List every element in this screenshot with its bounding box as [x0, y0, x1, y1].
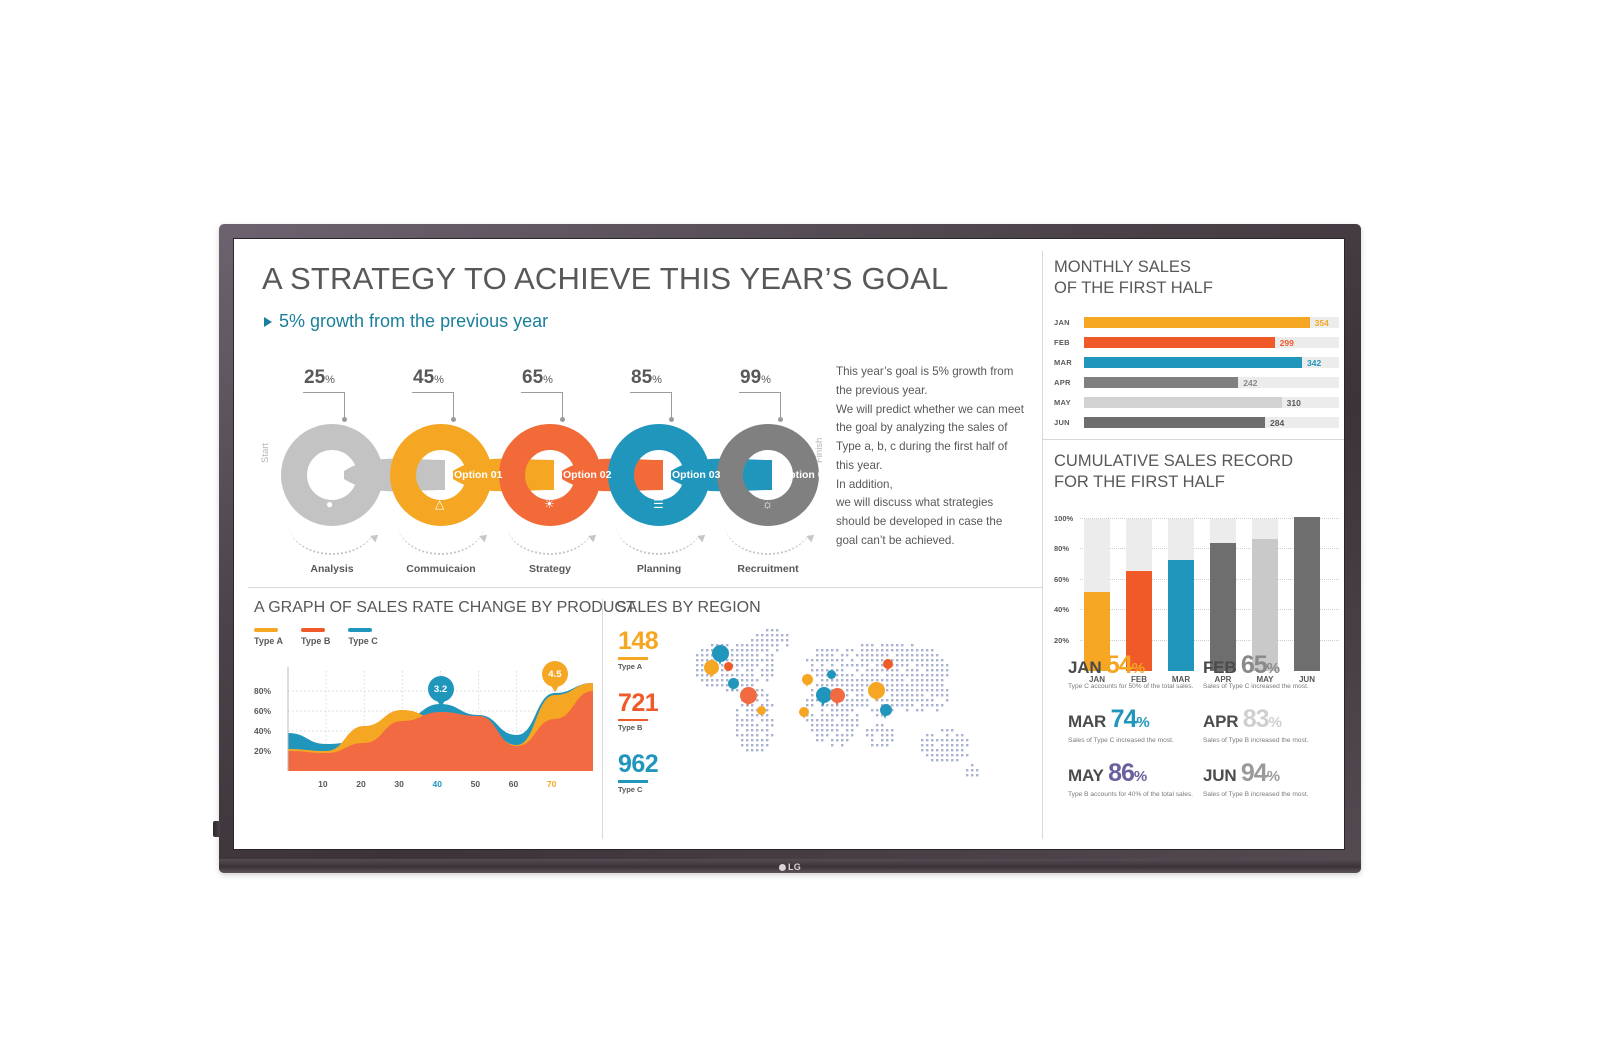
process-step-name: Analysis	[310, 563, 353, 575]
stat-month: FEB	[1203, 658, 1236, 677]
region-total-rule	[618, 719, 648, 722]
region-total-label: Type B	[618, 723, 658, 732]
monthly-sales-track: 310	[1084, 397, 1339, 408]
process-step-name: Commuicaion	[406, 563, 475, 575]
process-step-name: Strategy	[529, 563, 571, 575]
monthly-sales-title: MONTHLY SALES OF THE FIRST HALF	[1054, 257, 1339, 298]
process-percent-value: 85	[631, 367, 652, 388]
area-x-tick: 10	[318, 779, 327, 789]
process-percent-dot	[669, 417, 674, 422]
process-percent-stem	[562, 392, 563, 418]
stat-month: MAY	[1068, 766, 1104, 785]
monthly-sales-month: JAN	[1054, 318, 1084, 327]
world-map	[682, 625, 1022, 805]
process-percent-value: 45	[413, 367, 434, 388]
stat-month: APR	[1203, 712, 1238, 731]
stat-month: MAR	[1068, 712, 1106, 731]
body-line: We will predict whether we can meet the …	[836, 401, 1026, 476]
region-total-value: 721	[618, 689, 658, 718]
stat-month: JAN	[1068, 658, 1101, 677]
process-percent-rule	[303, 392, 345, 393]
month-stat-block: MAR 74%Sales of Type C increased the mos…	[1068, 705, 1203, 746]
area-x-tick: 20	[356, 779, 365, 789]
power-joystick-button[interactable]	[213, 821, 220, 837]
world-map-dots	[682, 625, 1022, 805]
stat-caption: Sales of Type B increased the most.	[1203, 737, 1338, 746]
map-location-pin-tail	[834, 699, 840, 706]
area-annotation-pin-tail	[436, 699, 446, 707]
process-percent-stem	[671, 392, 672, 418]
area-annotation-pin-tail	[550, 684, 560, 692]
area-x-tick: 30	[394, 779, 403, 789]
monthly-sales-row: FEB299	[1054, 334, 1339, 350]
stat-unit: %	[1134, 768, 1146, 785]
database-icon: ☰	[653, 497, 664, 511]
process-diagram: Start Finish 25%●Analysis45%Option 01△Co…	[254, 367, 824, 577]
monthly-sales-value: 342	[1307, 358, 1321, 368]
monthly-sales-month: JUN	[1054, 418, 1084, 427]
monthly-sales-bar	[1084, 377, 1238, 388]
map-location-pin-tail	[731, 686, 735, 691]
monitor-frame: A STRATEGY TO ACHIEVE THIS YEAR’S GOAL 5…	[219, 224, 1361, 873]
stat-unit: %	[1132, 660, 1144, 677]
legend-item: Type A	[254, 628, 283, 646]
monthly-sales-bar	[1084, 357, 1302, 368]
stat-unit: %	[1269, 714, 1281, 731]
stat-month: JUN	[1203, 766, 1236, 785]
sales-rate-title: A GRAPH OF SALES RATE CHANGE BY PRODUCT	[254, 599, 599, 617]
clock-icon: ☀	[544, 497, 555, 511]
stat-value: 54%	[1106, 651, 1144, 679]
month-stat-block: JAN 54%Type C accounts for 50% of the to…	[1068, 651, 1203, 692]
cumulative-sales-panel: CUMULATIVE SALES RECORD FOR THE FIRST HA…	[1054, 451, 1339, 846]
process-option-label: Option 03	[672, 469, 720, 481]
monthly-sales-row: MAR342	[1054, 354, 1339, 370]
area-x-tick: 40	[433, 779, 442, 789]
area-x-tick: 50	[471, 779, 480, 789]
cumulative-y-tick: 60%	[1054, 575, 1069, 584]
map-location-pin-tail	[820, 699, 826, 707]
divider-vertical-right	[1042, 251, 1043, 839]
process-percent-stem	[780, 392, 781, 418]
process-percent-rule	[412, 392, 454, 393]
body-paragraph: This year’s goal is 5% growth from the p…	[836, 363, 1026, 551]
monitor-bottom-bezel: LG	[219, 859, 1361, 873]
monthly-stat-grid: JAN 54%Type C accounts for 50% of the to…	[1068, 651, 1338, 800]
stat-unit: %	[1267, 660, 1279, 677]
stat-value: 74%	[1111, 705, 1149, 733]
month-stat-block: MAY 86%Type B accounts for 40% of the to…	[1068, 759, 1203, 800]
process-percent: 99%	[740, 367, 771, 389]
page-subtitle: 5% growth from the previous year	[264, 311, 548, 332]
cumulative-y-tick: 40%	[1054, 605, 1069, 614]
map-location-pin-tail	[717, 657, 723, 665]
monthly-sales-month: APR	[1054, 378, 1084, 387]
process-percent-rule	[521, 392, 563, 393]
monthly-sales-bar	[1084, 417, 1265, 428]
stat-value: 83%	[1243, 705, 1281, 733]
sales-by-region-panel: SALES BY REGION 148Type A721Type B962Typ…	[616, 599, 1036, 839]
month-stat-block: APR 83%Sales of Type B increased the mos…	[1203, 705, 1338, 746]
process-percent-rule	[739, 392, 781, 393]
legend-swatch	[348, 628, 372, 632]
region-total-label: Type C	[618, 785, 658, 794]
monthly-sales-month: MAY	[1054, 398, 1084, 407]
sales-rate-panel: A GRAPH OF SALES RATE CHANGE BY PRODUCT …	[254, 599, 599, 839]
region-total-rule	[618, 657, 648, 660]
sales-by-region-title: SALES BY REGION	[616, 599, 1036, 617]
stat-value: 86%	[1108, 759, 1146, 787]
process-percent-stem	[344, 392, 345, 418]
legend-item: Type B	[301, 628, 330, 646]
body-line: we will discuss what strategies should b…	[836, 494, 1026, 550]
display-screen: A STRATEGY TO ACHIEVE THIS YEAR’S GOAL 5…	[233, 238, 1345, 850]
map-location-pin-tail	[883, 713, 887, 719]
sales-rate-legend: Type AType BType C	[254, 628, 599, 646]
map-location-pin-tail	[873, 694, 879, 702]
area-y-tick: 80%	[254, 686, 271, 696]
lg-logo: LG	[779, 862, 801, 872]
cumulative-sales-title: CUMULATIVE SALES RECORD FOR THE FIRST HA…	[1054, 451, 1339, 492]
divider-vertical-mid	[602, 599, 603, 839]
process-percent-unit: %	[543, 374, 553, 386]
monthly-sales-bar	[1084, 337, 1275, 348]
monthly-sales-value: 284	[1270, 418, 1284, 428]
monthly-sales-bar	[1084, 397, 1282, 408]
map-location-pin-tail	[886, 666, 890, 671]
month-stat-block: FEB 65%Sales of Type C increased the mos…	[1203, 651, 1338, 692]
process-percent-value: 99	[740, 367, 761, 388]
moneybag-icon: ●	[326, 497, 333, 511]
monthly-sales-row: MAY310	[1054, 394, 1339, 410]
process-percent-rule	[630, 392, 672, 393]
monthly-sales-track: 299	[1084, 337, 1339, 348]
legend-label: Type C	[348, 636, 377, 646]
sales-rate-area-chart: 80%60%40%20%102030405060703.24.5	[254, 657, 599, 797]
lg-logo-mark-icon	[779, 864, 786, 871]
legend-swatch	[254, 628, 278, 632]
process-percent-stem	[453, 392, 454, 418]
process-percent-value: 65	[522, 367, 543, 388]
cumulative-bar-chart: 100%80%60%40%20%JANFEBMARAPRMAYJUN	[1054, 506, 1339, 671]
stat-caption: Type C accounts for 50% of the total sal…	[1068, 683, 1203, 692]
region-total-block: 721Type B	[618, 689, 658, 733]
stat-value: 65%	[1241, 651, 1279, 679]
slide-canvas: A STRATEGY TO ACHIEVE THIS YEAR’S GOAL 5…	[234, 239, 1344, 849]
body-line: In addition,	[836, 476, 1026, 495]
monthly-sales-value: 242	[1243, 378, 1257, 388]
page-title: A STRATEGY TO ACHIEVE THIS YEAR’S GOAL	[262, 261, 948, 297]
monthly-sales-value: 310	[1287, 398, 1301, 408]
process-percent: 65%	[522, 367, 553, 389]
region-total-block: 148Type A	[618, 627, 658, 671]
area-y-tick: 60%	[254, 706, 271, 716]
cumulative-y-tick: 80%	[1054, 544, 1069, 553]
map-location-pin-tail	[760, 712, 762, 716]
cumulative-y-tick: 20%	[1054, 636, 1069, 645]
process-percent-value: 25	[304, 367, 325, 388]
map-location-pin-tail	[708, 671, 714, 678]
legend-label: Type B	[301, 636, 330, 646]
process-percent: 25%	[304, 367, 335, 389]
process-percent-dot	[560, 417, 565, 422]
monthly-sales-month: MAR	[1054, 358, 1084, 367]
stat-caption: Sales of Type C increased the most.	[1068, 737, 1203, 746]
region-totals: 148Type A721Type B962Type C	[618, 627, 658, 812]
area-x-tick: 60	[509, 779, 518, 789]
cumulative-bar	[1294, 517, 1320, 671]
region-total-block: 962Type C	[618, 750, 658, 794]
process-percent-dot	[342, 417, 347, 422]
process-percent-dot	[778, 417, 783, 422]
monthly-sales-row: APR242	[1054, 374, 1339, 390]
lightbulb-icon: ☼	[762, 497, 773, 511]
monthly-sales-panel: MONTHLY SALES OF THE FIRST HALF JAN354FE…	[1054, 257, 1339, 437]
legend-swatch	[301, 628, 325, 632]
subtitle-text: 5% growth from the previous year	[279, 311, 548, 332]
month-stat-block: JUN 94%Sales of Type B increased the mos…	[1203, 759, 1338, 800]
process-percent-unit: %	[434, 374, 444, 386]
process-option-label: Option 02	[563, 469, 611, 481]
monthly-sales-track: 242	[1084, 377, 1339, 388]
process-step-name: Planning	[637, 563, 681, 575]
stat-unit: %	[1136, 714, 1148, 731]
process-percent: 45%	[413, 367, 444, 389]
divider-horizontal-left	[248, 587, 1042, 588]
flask-icon: △	[435, 497, 444, 511]
area-y-tick: 20%	[254, 746, 271, 756]
stat-caption: Type B accounts for 40% of the total sal…	[1068, 791, 1203, 800]
monthly-sales-track: 354	[1084, 317, 1339, 328]
monthly-sales-row: JAN354	[1054, 314, 1339, 330]
cumulative-y-tick: 100%	[1054, 514, 1073, 523]
stat-unit: %	[1267, 768, 1279, 785]
stat-caption: Sales of Type C increased the most.	[1203, 683, 1338, 692]
region-total-value: 962	[618, 750, 658, 779]
map-location-pin-tail	[802, 714, 806, 719]
monthly-sales-track: 342	[1084, 357, 1339, 368]
process-percent-unit: %	[652, 374, 662, 386]
process-option-label: Option 01	[454, 469, 502, 481]
process-option-label: Option 04	[781, 469, 829, 481]
monthly-sales-track: 284	[1084, 417, 1339, 428]
region-total-rule	[618, 780, 648, 783]
divider-horizontal-right	[1042, 439, 1345, 440]
area-y-tick: 40%	[254, 726, 271, 736]
region-total-value: 148	[618, 627, 658, 656]
legend-label: Type A	[254, 636, 283, 646]
stat-value: 94%	[1241, 759, 1279, 787]
map-location-pin-tail	[745, 699, 751, 707]
body-line: This year’s goal is 5% growth from the p…	[836, 363, 1026, 401]
region-total-label: Type A	[618, 662, 658, 671]
monthly-sales-value: 299	[1280, 338, 1294, 348]
map-location-pin-tail	[727, 668, 729, 672]
stat-caption: Sales of Type B increased the most.	[1203, 791, 1338, 800]
process-percent: 85%	[631, 367, 662, 389]
monthly-sales-row: JUN284	[1054, 414, 1339, 430]
monthly-sales-bar	[1084, 317, 1310, 328]
map-location-pin-tail	[830, 676, 832, 680]
process-percent-unit: %	[325, 374, 335, 386]
legend-item: Type C	[348, 628, 377, 646]
process-step-name: Recruitment	[737, 563, 798, 575]
process-percent-dot	[451, 417, 456, 422]
map-location-pin-tail	[805, 682, 809, 687]
triangle-bullet-icon	[264, 317, 272, 327]
area-x-tick: 70	[547, 779, 556, 789]
monthly-sales-month: FEB	[1054, 338, 1084, 347]
monthly-sales-value: 354	[1315, 318, 1329, 328]
process-percent-unit: %	[761, 374, 771, 386]
